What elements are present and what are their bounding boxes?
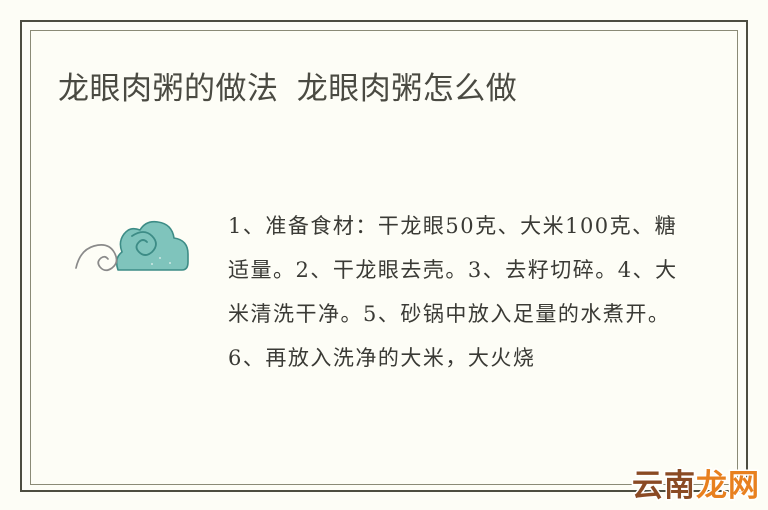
recipe-steps-text: 1、准备食材：干龙眼50克、大米100克、糖适量。2、干龙眼去壳。3、去籽切碎。… bbox=[228, 204, 678, 380]
article-content: 1、准备食材：干龙眼50克、大米100克、糖适量。2、干龙眼去壳。3、去籽切碎。… bbox=[58, 198, 678, 448]
site-watermark: 云南龙网 bbox=[632, 471, 760, 502]
cloud-swirl-icon bbox=[74, 206, 194, 286]
watermark-part-two: 龙网 bbox=[696, 468, 760, 504]
page-title: 龙眼肉粥的做法 龙眼肉粥怎么做 bbox=[58, 66, 658, 111]
watermark-part-one: 云南 bbox=[632, 468, 696, 504]
article-card: 龙眼肉粥的做法 龙眼肉粥怎么做 1、准备食材：干龙眼50克、大米100克、糖适量… bbox=[0, 0, 768, 510]
